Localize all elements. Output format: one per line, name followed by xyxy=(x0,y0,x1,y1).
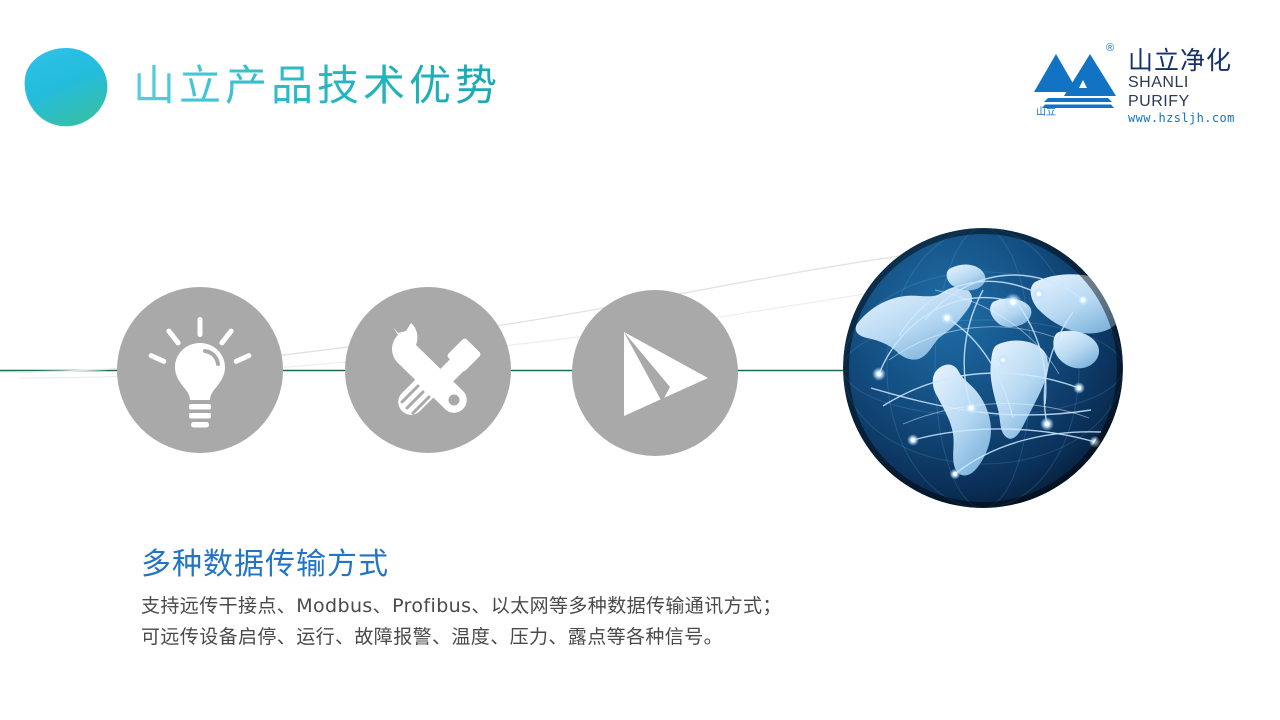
logo-company-en: SHANLI PURIFY xyxy=(1128,74,1254,111)
decorative-blob-shape xyxy=(22,46,110,128)
company-logo: ® 山立 山立净化 SHANLI PURIFY www.hzsljh.com xyxy=(1030,44,1252,122)
logo-company-cn: 山立净化 xyxy=(1128,48,1254,74)
network-globe-image xyxy=(843,228,1123,508)
registered-trademark-icon: ® xyxy=(1106,42,1114,54)
lightbulb-icon xyxy=(117,287,283,453)
feature-circle-tools[interactable] xyxy=(345,287,511,453)
feature-circle-lightbulb[interactable] xyxy=(117,287,283,453)
tools-icon xyxy=(345,287,511,453)
globe-graphic xyxy=(843,228,1123,508)
logo-mark-label: 山立 xyxy=(1036,103,1056,118)
logo-text-block: 山立净化 SHANLI PURIFY www.hzsljh.com xyxy=(1128,48,1254,127)
slide-canvas: 山立产品技术优势 ® 山立 山立净化 SHANLI PURIFY www.hzs… xyxy=(0,0,1280,720)
page-title: 山立产品技术优势 xyxy=(133,60,501,113)
caption-line-2: 可远传设备启停、运行、故障报警、温度、压力、露点等各种信号。 xyxy=(141,622,782,653)
feature-circle-paper-plane[interactable] xyxy=(572,290,738,456)
caption-heading: 多种数据传输方式 xyxy=(141,539,389,583)
logo-website: www.hzsljh.com xyxy=(1128,111,1254,127)
paper-plane-icon xyxy=(572,290,738,456)
caption-body: 支持远传干接点、Modbus、Profibus、以太网等多种数据传输通讯方式； … xyxy=(141,591,782,653)
caption-line-1: 支持远传干接点、Modbus、Profibus、以太网等多种数据传输通讯方式； xyxy=(141,591,782,622)
